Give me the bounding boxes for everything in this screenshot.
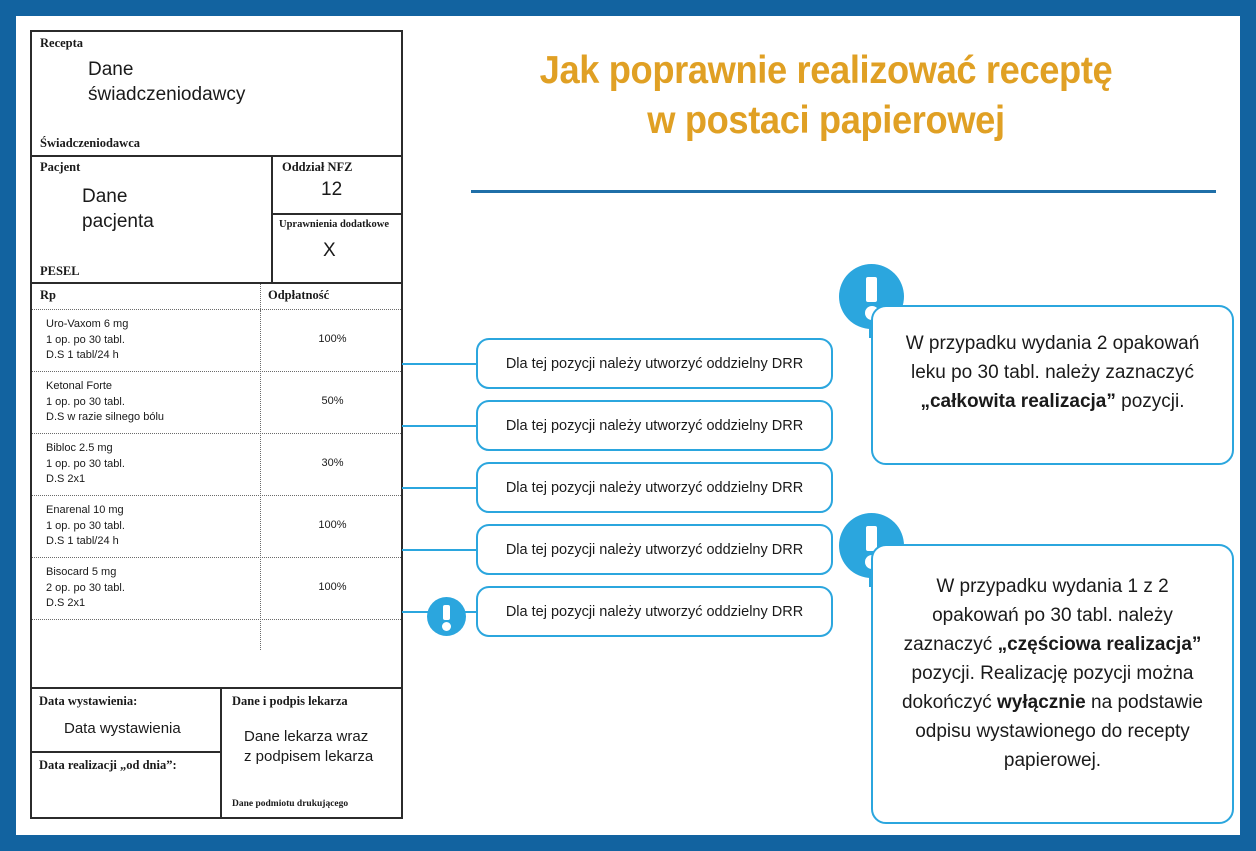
callout-text-run: W przypadku wydania 2 opakowań leku po 3… [906,333,1200,383]
patient-right-cell: Oddział NFZ 12 Uprawnienia dodatkowe X [273,157,401,282]
poster-page: Recepta Dane świadczeniodawcy Świadczeni… [0,0,1256,851]
item-description: Uro-Vaxom 6 mg 1 op. po 30 tabl. D.S 1 t… [46,317,128,364]
drr-note-text: Dla tej pozycji należy utworzyć oddzieln… [478,542,831,558]
connector-line [402,487,478,489]
connector-line [402,549,478,551]
pacjent-label: Pacjent [40,161,263,175]
drr-note-box[interactable]: Dla tej pozycji należy utworzyć oddzieln… [476,400,833,451]
provider-data-handwritten: Dane świadczeniodawcy [88,58,245,107]
table-row-empty [32,620,401,686]
exclamation-bar [866,277,877,302]
item-payment: 100% [260,333,405,345]
callout-text-emphasis: „częściowa realizacja” [998,634,1202,655]
from-date-label: Data realizacji „od dnia”: [39,759,220,773]
table-row: Uro-Vaxom 6 mg 1 op. po 30 tabl. D.S 1 t… [32,310,401,372]
drr-note-text: Dla tej pozycji należy utworzyć oddzieln… [478,480,831,496]
prescription-form: Recepta Dane świadczeniodawcy Świadczeni… [30,30,403,819]
table-row: Bibloc 2.5 mg 1 op. po 30 tabl. D.S 2x1 … [32,434,401,496]
swiadczeniodawca-label: Świadczeniodawca [40,137,140,151]
doctor-label: Dane i podpis lekarza [232,695,401,709]
nfz-label: Oddział NFZ [282,161,401,175]
nfz-value: 12 [321,178,342,203]
item-description: Bisocard 5 mg 2 op. po 30 tabl. D.S 2x1 [46,565,125,612]
patient-section: Pacjent Dane pacjenta PESEL Oddział NFZ … [32,157,401,284]
extra-rights-value: X [323,239,336,264]
drr-note-box[interactable]: Dla tej pozycji należy utworzyć oddzieln… [476,462,833,513]
issue-date-value: Data wystawienia [64,719,181,739]
callout-text: W przypadku wydania 1 z 2 opakowań po 30… [895,572,1210,775]
callout-text-emphasis: wyłącznie [997,692,1086,713]
connector-line [402,425,478,427]
issue-date-label: Data wystawienia: [39,695,220,709]
table-row: Enarenal 10 mg 1 op. po 30 tabl. D.S 1 t… [32,496,401,558]
extra-rights-label: Uprawnienia dodatkowe [279,219,401,231]
table-row: Bisocard 5 mg 2 op. po 30 tabl. D.S 2x1 … [32,558,401,620]
doctor-cell: Dane i podpis lekarza Dane lekarza wraz … [222,689,401,817]
nfz-cell: Oddział NFZ 12 [273,157,401,215]
item-description: Bibloc 2.5 mg 1 op. po 30 tabl. D.S 2x1 [46,441,125,488]
page-title: Jak poprawnie realizować receptę w posta… [473,46,1180,146]
item-payment: 100% [260,581,405,593]
extra-rights-cell: Uprawnienia dodatkowe X [273,215,401,282]
column-header-rp: Rp [40,289,56,303]
drr-note-box[interactable]: Dla tej pozycji należy utworzyć oddzieln… [476,586,833,637]
column-header-odplatnosc: Odpłatność [268,289,329,303]
recepta-label: Recepta [40,37,393,51]
poster-canvas: Recepta Dane świadczeniodawcy Świadczeni… [16,16,1240,835]
footer-left-column: Data wystawienia: Data wystawienia Data … [32,689,222,817]
table-row: Ketonal Forte 1 op. po 30 tabl. D.S w ra… [32,372,401,434]
column-divider [260,284,261,309]
connector-line [402,363,478,365]
drr-note-text: Dla tej pozycji należy utworzyć oddzieln… [478,356,831,372]
exclamation-bar [443,605,450,620]
patient-left-cell: Pacjent Dane pacjenta PESEL [32,157,273,282]
callout-box-partial-realization[interactable]: W przypadku wydania 1 z 2 opakowań po 30… [871,544,1234,824]
drr-note-text: Dla tej pozycji należy utworzyć oddzieln… [478,418,831,434]
pesel-label: PESEL [40,265,80,279]
drr-note-box[interactable]: Dla tej pozycji należy utworzyć oddzieln… [476,338,833,389]
page-title-line-2: w postaci papierowej [473,96,1180,146]
from-date-cell: Data realizacji „od dnia”: [32,753,220,817]
items-table: Uro-Vaxom 6 mg 1 op. po 30 tabl. D.S 1 t… [32,310,401,687]
exclamation-dot [442,622,451,631]
item-payment: 30% [260,457,405,469]
exclamation-icon [427,597,466,636]
items-table-header: Rp Odpłatność [32,284,401,310]
page-title-line-1: Jak poprawnie realizować receptę [473,46,1180,96]
drr-note-box[interactable]: Dla tej pozycji należy utworzyć oddzieln… [476,524,833,575]
issue-date-cell: Data wystawienia: Data wystawienia [32,689,220,753]
callout-box-complete-realization[interactable]: W przypadku wydania 2 opakowań leku po 3… [871,305,1234,465]
doctor-value: Dane lekarza wraz z podpisem lekarza [244,727,373,766]
callout-text-run: pozycji. [1116,391,1185,412]
callout-text-emphasis: „całkowita realizacja” [920,391,1115,412]
item-payment: 50% [260,395,405,407]
prescription-footer: Data wystawienia: Data wystawienia Data … [32,687,401,817]
title-underline [471,190,1216,193]
patient-data-handwritten: Dane pacjenta [82,185,154,234]
item-description: Ketonal Forte 1 op. po 30 tabl. D.S w ra… [46,379,164,426]
item-description: Enarenal 10 mg 1 op. po 30 tabl. D.S 1 t… [46,503,125,550]
printer-label: Dane podmiotu drukującego [232,799,348,809]
item-payment: 100% [260,519,405,531]
provider-section: Recepta Dane świadczeniodawcy Świadczeni… [32,32,401,157]
callout-text: W przypadku wydania 2 opakowań leku po 3… [899,329,1206,416]
drr-note-text: Dla tej pozycji należy utworzyć oddzieln… [478,604,831,620]
